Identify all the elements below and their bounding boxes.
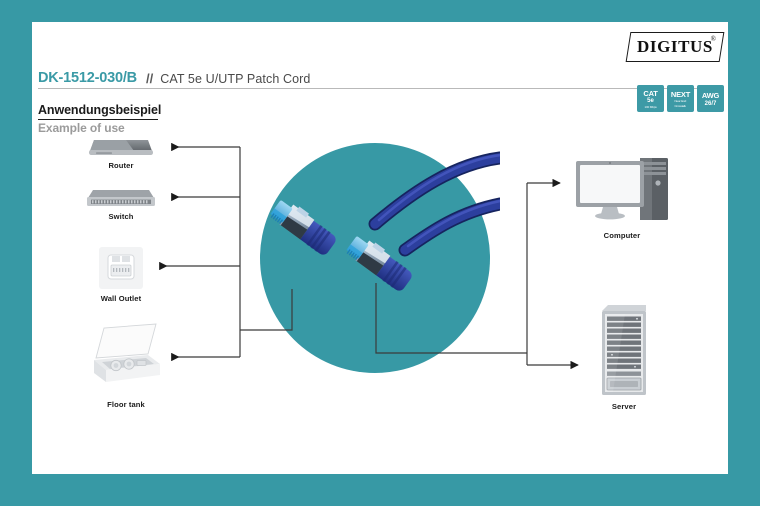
device-label-switch: Switch [84,212,158,221]
device-icon-wall-outlet [98,246,144,290]
device-label-wall-outlet: Wall Outlet [84,294,158,303]
badge-next-line3: Crosstalk [675,105,686,108]
patch-cord-illustration [255,138,500,380]
section-title-en: Example of use [38,121,125,135]
device-label-floor-tank: Floor tank [80,400,172,409]
badge-next-line2: Near End [675,100,687,103]
digitus-logo: DIGITUS ® [628,32,722,62]
badge-cat-line2: 5e [647,98,654,104]
badge-next-line1: NEXT [671,91,690,99]
badge-awg-line1: AWG [702,92,719,100]
badge-cat-line1: CAT [643,90,657,98]
badge-cat-line3: 100 Mbps [644,106,656,109]
section-title-de: Anwendungsbeispiel [38,103,161,117]
device-icon-router [84,135,158,159]
badge-cat: CAT 5e 100 Mbps [637,85,664,112]
product-header: DK-1512-030/B // CAT 5e U/UTP Patch Cord [38,64,678,86]
header-divider [38,88,722,89]
device-label-computer: Computer [572,231,672,240]
badge-awg-line2: 26/7 [705,101,717,107]
device-icon-floor-tank [86,318,166,390]
page-root: DK-1512-030/B // CAT 5e U/UTP Patch Cord… [0,0,760,506]
device-label-router: Router [84,161,158,170]
header-separator: // [146,71,153,86]
logo-registered-mark: ® [711,35,716,43]
device-icon-switch [84,186,158,210]
logo-text: DIGITUS [628,32,722,62]
product-description: CAT 5e U/UTP Patch Cord [160,72,310,86]
device-icon-computer [572,156,672,226]
product-sku: DK-1512-030/B [38,70,137,86]
badge-awg: AWG 26/7 [697,85,724,112]
certification-badges: CAT 5e 100 Mbps NEXT Near End Crosstalk … [637,85,724,112]
device-icon-server [599,303,649,397]
badge-next: NEXT Near End Crosstalk [667,85,694,112]
device-label-server: Server [599,402,649,411]
